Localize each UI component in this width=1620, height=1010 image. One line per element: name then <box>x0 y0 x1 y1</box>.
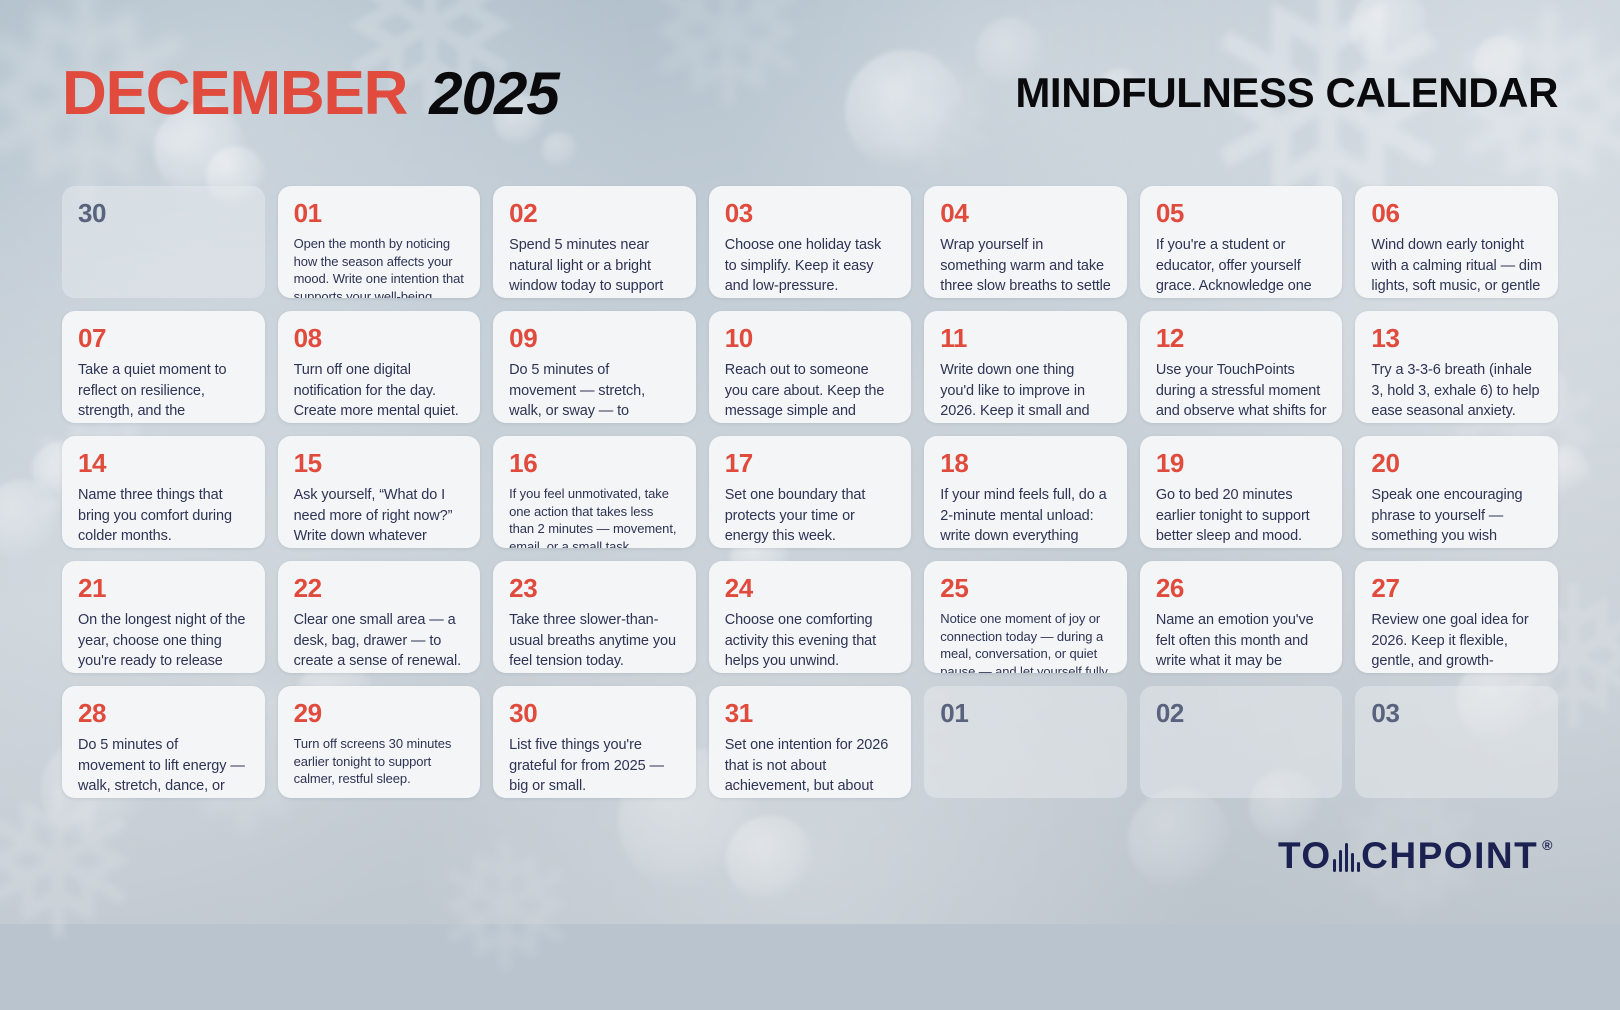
calendar-day-cell[interactable]: 05If you're a student or educator, offer… <box>1140 186 1343 298</box>
day-number: 13 <box>1371 325 1542 351</box>
calendar-day-cell[interactable]: 18If your mind feels full, do a 2-minute… <box>924 436 1127 548</box>
day-prompt-text: If your mind feels full, do a 2-minute m… <box>940 485 1111 548</box>
calendar-day-cell[interactable]: 30 <box>62 186 265 298</box>
day-number: 27 <box>1371 575 1542 601</box>
day-number: 11 <box>940 325 1111 351</box>
day-prompt-text: Speak one encouraging phrase to yourself… <box>1371 485 1542 548</box>
calendar-day-cell[interactable]: 28Do 5 minutes of movement to lift energ… <box>62 686 265 798</box>
calendar-day-cell[interactable]: 10Reach out to someone you care about. K… <box>709 311 912 423</box>
day-number: 31 <box>725 700 896 726</box>
day-number: 20 <box>1371 450 1542 476</box>
day-prompt-text: Name three things that bring you comfort… <box>78 485 249 547</box>
day-prompt-text: Set one boundary that protects your time… <box>725 485 896 547</box>
day-prompt-text: Do 5 minutes of movement — stretch, walk… <box>509 360 680 423</box>
calendar-day-cell[interactable]: 04Wrap yourself in something warm and ta… <box>924 186 1127 298</box>
day-prompt-text: Clear one small area — a desk, bag, draw… <box>294 610 465 672</box>
month-title: DECEMBER <box>62 58 407 129</box>
day-number: 29 <box>294 700 465 726</box>
touchpoint-logo: TO CHPOINT ® <box>1278 835 1554 877</box>
day-number: 24 <box>725 575 896 601</box>
day-prompt-text: Try a 3-3-6 breath (inhale 3, hold 3, ex… <box>1371 360 1542 422</box>
day-prompt-text: Take three slower-than-usual breaths any… <box>509 610 680 672</box>
day-prompt-text: Choose one holiday task to simplify. Kee… <box>725 235 896 297</box>
registered-trademark-icon: ® <box>1542 837 1554 853</box>
day-number: 14 <box>78 450 249 476</box>
calendar-day-cell[interactable]: 27Review one goal idea for 2026. Keep it… <box>1355 561 1558 673</box>
calendar-subtitle: MINDFULNESS CALENDAR <box>1015 69 1558 117</box>
calendar-grid: 3001Open the month by noticing how the s… <box>62 186 1558 798</box>
calendar-day-cell[interactable]: 09Do 5 minutes of movement — stretch, wa… <box>493 311 696 423</box>
calendar-day-cell[interactable]: 17Set one boundary that protects your ti… <box>709 436 912 548</box>
day-number: 03 <box>725 200 896 226</box>
day-prompt-text: Turn off screens 30 minutes earlier toni… <box>294 735 465 788</box>
calendar-day-cell[interactable]: 29Turn off screens 30 minutes earlier to… <box>278 686 481 798</box>
page-title: DECEMBER 2025 <box>62 58 559 129</box>
day-number: 18 <box>940 450 1111 476</box>
calendar-day-cell[interactable]: 08Turn off one digital notification for … <box>278 311 481 423</box>
calendar-day-cell[interactable]: 24Choose one comforting activity this ev… <box>709 561 912 673</box>
calendar-day-cell[interactable]: 03Choose one holiday task to simplify. K… <box>709 186 912 298</box>
day-prompt-text: Spend 5 minutes near natural light or a … <box>509 235 680 298</box>
calendar-day-cell[interactable]: 31Set one intention for 2026 that is not… <box>709 686 912 798</box>
day-prompt-text: Wrap yourself in something warm and take… <box>940 235 1111 298</box>
day-prompt-text: Go to bed 20 minutes earlier tonight to … <box>1156 485 1327 547</box>
day-prompt-text: Reach out to someone you care about. Kee… <box>725 360 896 423</box>
day-number: 23 <box>509 575 680 601</box>
calendar-day-cell[interactable]: 25Notice one moment of joy or connection… <box>924 561 1127 673</box>
day-number: 30 <box>78 200 249 226</box>
day-number: 15 <box>294 450 465 476</box>
calendar-page: DECEMBER 2025 MINDFULNESS CALENDAR 3001O… <box>0 0 1620 924</box>
brand-name-part2: CHPOINT <box>1361 835 1538 877</box>
year-title: 2025 <box>429 59 558 128</box>
day-prompt-text: Review one goal idea for 2026. Keep it f… <box>1371 610 1542 673</box>
day-prompt-text: Take a quiet moment to reflect on resili… <box>78 360 249 423</box>
day-number: 21 <box>78 575 249 601</box>
day-number: 28 <box>78 700 249 726</box>
soundwave-icon <box>1333 842 1361 872</box>
day-prompt-text: Name an emotion you've felt often this m… <box>1156 610 1327 673</box>
page-header: DECEMBER 2025 MINDFULNESS CALENDAR <box>62 0 1558 186</box>
calendar-day-cell[interactable]: 30List five things you're grateful for f… <box>493 686 696 798</box>
calendar-day-cell[interactable]: 20Speak one encouraging phrase to yourse… <box>1355 436 1558 548</box>
day-prompt-text: If you're a student or educator, offer y… <box>1156 235 1327 298</box>
calendar-day-cell[interactable]: 07Take a quiet moment to reflect on resi… <box>62 311 265 423</box>
day-prompt-text: Set one intention for 2026 that is not a… <box>725 735 896 798</box>
day-number: 12 <box>1156 325 1327 351</box>
day-number: 08 <box>294 325 465 351</box>
day-prompt-text: If you feel unmotivated, take one action… <box>509 485 680 548</box>
calendar-day-cell[interactable]: 03 <box>1355 686 1558 798</box>
calendar-day-cell[interactable]: 02 <box>1140 686 1343 798</box>
day-number: 09 <box>509 325 680 351</box>
day-number: 05 <box>1156 200 1327 226</box>
day-prompt-text: Wind down early tonight with a calming r… <box>1371 235 1542 298</box>
calendar-day-cell[interactable]: 13Try a 3-3-6 breath (inhale 3, hold 3, … <box>1355 311 1558 423</box>
day-prompt-text: Do 5 minutes of movement to lift energy … <box>78 735 249 798</box>
day-number: 10 <box>725 325 896 351</box>
day-prompt-text: On the longest night of the year, choose… <box>78 610 249 673</box>
day-prompt-text: Write down one thing you'd like to impro… <box>940 360 1111 423</box>
calendar-day-cell[interactable]: 02Spend 5 minutes near natural light or … <box>493 186 696 298</box>
day-number: 22 <box>294 575 465 601</box>
day-prompt-text: Choose one comforting activity this even… <box>725 610 896 672</box>
day-number: 30 <box>509 700 680 726</box>
day-prompt-text: List five things you're grateful for fro… <box>509 735 680 797</box>
calendar-day-cell[interactable]: 12Use your TouchPoints during a stressfu… <box>1140 311 1343 423</box>
day-number: 06 <box>1371 200 1542 226</box>
calendar-day-cell[interactable]: 19Go to bed 20 minutes earlier tonight t… <box>1140 436 1343 548</box>
calendar-day-cell[interactable]: 14Name three things that bring you comfo… <box>62 436 265 548</box>
day-number: 07 <box>78 325 249 351</box>
brand-name-part1: TO <box>1278 835 1332 877</box>
day-prompt-text: Open the month by noticing how the seaso… <box>294 235 465 298</box>
calendar-day-cell[interactable]: 11Write down one thing you'd like to imp… <box>924 311 1127 423</box>
calendar-day-cell[interactable]: 23Take three slower-than-usual breaths a… <box>493 561 696 673</box>
day-number: 16 <box>509 450 680 476</box>
day-number: 02 <box>1156 700 1327 726</box>
day-prompt-text: Turn off one digital notification for th… <box>294 360 465 422</box>
calendar-day-cell[interactable]: 01Open the month by noticing how the sea… <box>278 186 481 298</box>
calendar-day-cell[interactable]: 06Wind down early tonight with a calming… <box>1355 186 1558 298</box>
calendar-day-cell[interactable]: 16If you feel unmotivated, take one acti… <box>493 436 696 548</box>
day-number: 25 <box>940 575 1111 601</box>
day-number: 03 <box>1371 700 1542 726</box>
day-number: 01 <box>294 200 465 226</box>
day-number: 17 <box>725 450 896 476</box>
day-prompt-text: Ask yourself, “What do I need more of ri… <box>294 485 465 548</box>
page-footer: TO CHPOINT ® <box>62 816 1558 896</box>
day-number: 19 <box>1156 450 1327 476</box>
day-number: 01 <box>940 700 1111 726</box>
day-number: 02 <box>509 200 680 226</box>
calendar-day-cell[interactable]: 22Clear one small area — a desk, bag, dr… <box>278 561 481 673</box>
day-number: 04 <box>940 200 1111 226</box>
calendar-day-cell[interactable]: 21On the longest night of the year, choo… <box>62 561 265 673</box>
calendar-day-cell[interactable]: 26Name an emotion you've felt often this… <box>1140 561 1343 673</box>
day-prompt-text: Use your TouchPoints during a stressful … <box>1156 360 1327 423</box>
calendar-day-cell[interactable]: 01 <box>924 686 1127 798</box>
day-prompt-text: Notice one moment of joy or connection t… <box>940 610 1111 673</box>
calendar-day-cell[interactable]: 15Ask yourself, “What do I need more of … <box>278 436 481 548</box>
day-number: 26 <box>1156 575 1327 601</box>
